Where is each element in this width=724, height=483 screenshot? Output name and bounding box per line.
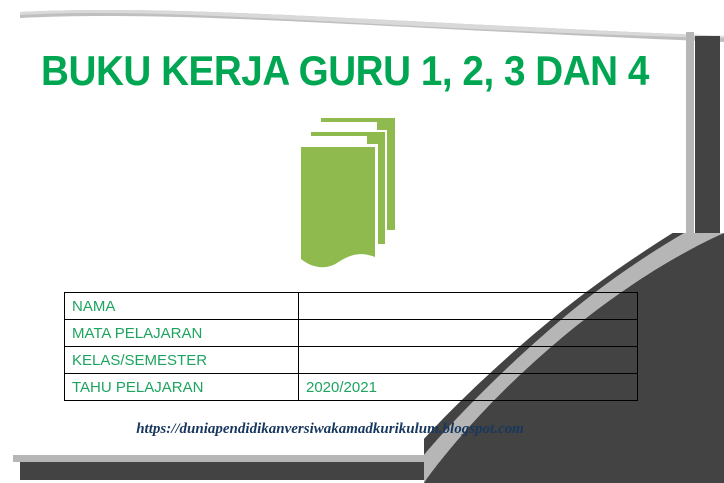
row-value[interactable] — [299, 293, 638, 320]
site-url-text[interactable]: https://duniapendidikanversiwakamadkurik… — [0, 421, 660, 438]
bottom-dark-bar-decoration — [20, 462, 724, 480]
row-label: TAHU PELAJARAN — [65, 374, 299, 401]
table-row: MATA PELAJARAN — [65, 320, 638, 347]
right-light-bar-decoration — [686, 32, 694, 440]
right-dark-bar-decoration — [695, 36, 720, 438]
stacked-books-icon — [292, 112, 407, 277]
table-row: NAMA — [65, 293, 638, 320]
presentation-slide: BUKU KERJA GURU 1, 2, 3 DAN 4 NAMA MATA … — [0, 0, 724, 483]
info-table: NAMA MATA PELAJARAN KELAS/SEMESTER TAHU … — [64, 292, 638, 401]
row-label: KELAS/SEMESTER — [65, 347, 299, 374]
table-row: KELAS/SEMESTER — [65, 347, 638, 374]
row-value[interactable]: 2020/2021 — [299, 374, 638, 401]
row-value[interactable] — [299, 320, 638, 347]
row-value[interactable] — [299, 347, 638, 374]
top-curve-decoration — [0, 0, 724, 50]
page-title: BUKU KERJA GURU 1, 2, 3 DAN 4 — [28, 48, 663, 94]
row-label: NAMA — [65, 293, 299, 320]
bottom-light-bar-decoration — [13, 455, 724, 462]
row-label: MATA PELAJARAN — [65, 320, 299, 347]
table-row: TAHU PELAJARAN 2020/2021 — [65, 374, 638, 401]
